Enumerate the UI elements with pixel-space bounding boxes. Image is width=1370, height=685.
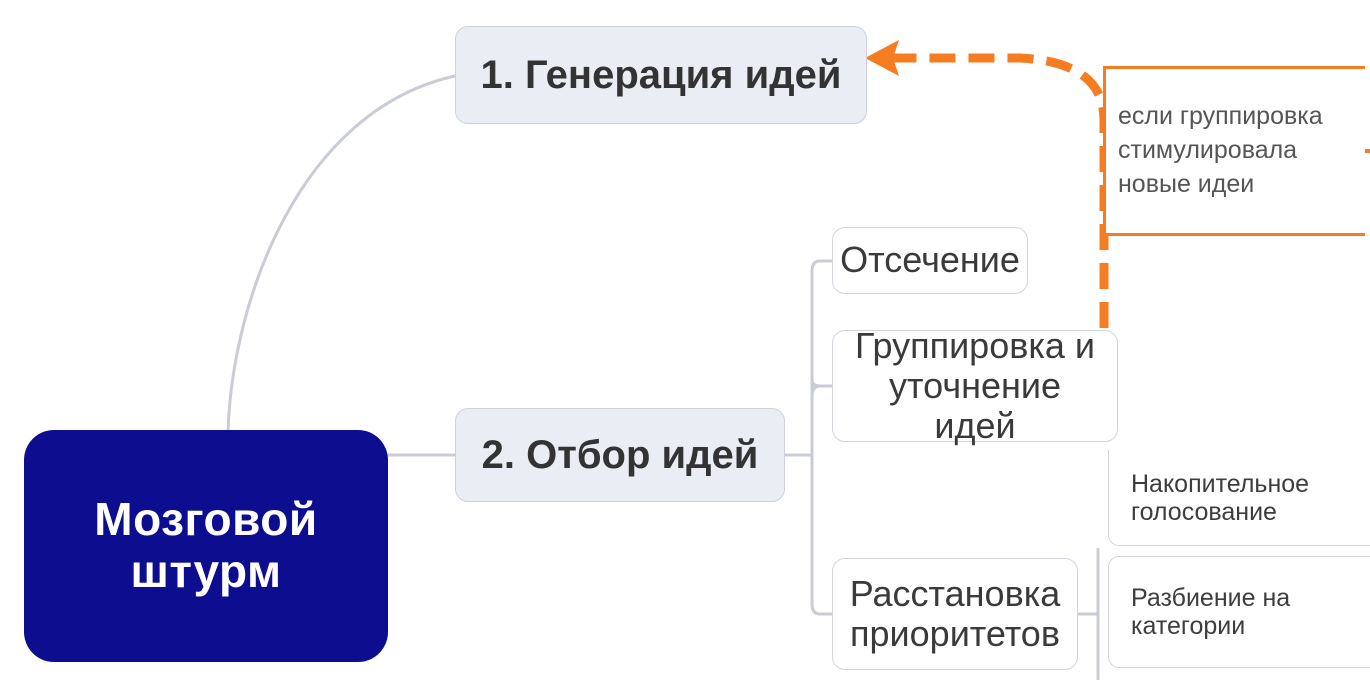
branch-node-generation-label: 1. Генерация идей	[481, 53, 842, 98]
root-node[interactable]: Мозговой штурм	[24, 430, 388, 662]
feedback-note-label: если группировка стимулировала новые иде…	[1118, 100, 1323, 201]
connector-selection-spine-mid	[812, 380, 832, 386]
branch-node-generation[interactable]: 1. Генерация идей	[455, 26, 867, 124]
child-node-grouping-label: Группировка и уточнение идей	[847, 326, 1103, 447]
leaf-node-categorization-label: Разбиение на категории	[1131, 584, 1290, 640]
child-node-cut[interactable]: Отсечение	[832, 227, 1028, 294]
branch-node-selection[interactable]: 2. Отбор идей	[455, 408, 785, 502]
mindmap-canvas: Мозговой штурм 1. Генерация идей 2. Отбо…	[0, 0, 1370, 685]
leaf-node-cumulative-voting[interactable]: Накопительное голосование	[1108, 450, 1370, 546]
leaf-node-cumulative-voting-label: Накопительное голосование	[1131, 470, 1309, 526]
feedback-arrowhead-icon	[865, 40, 899, 76]
root-node-label: Мозговой штурм	[94, 494, 317, 597]
child-node-grouping[interactable]: Группировка и уточнение идей	[832, 330, 1118, 442]
child-node-prioritization-label: Расстановка приоритетов	[850, 574, 1061, 655]
connector-root-to-generation	[228, 76, 455, 432]
branch-node-selection-label: 2. Отбор идей	[482, 433, 759, 478]
leaf-node-categorization[interactable]: Разбиение на категории	[1108, 556, 1370, 668]
child-node-prioritization[interactable]: Расстановка приоритетов	[832, 558, 1078, 670]
feedback-note[interactable]: если группировка стимулировала новые иде…	[1103, 66, 1365, 236]
child-node-cut-label: Отсечение	[840, 240, 1020, 280]
connector-selection-spine	[812, 261, 832, 614]
